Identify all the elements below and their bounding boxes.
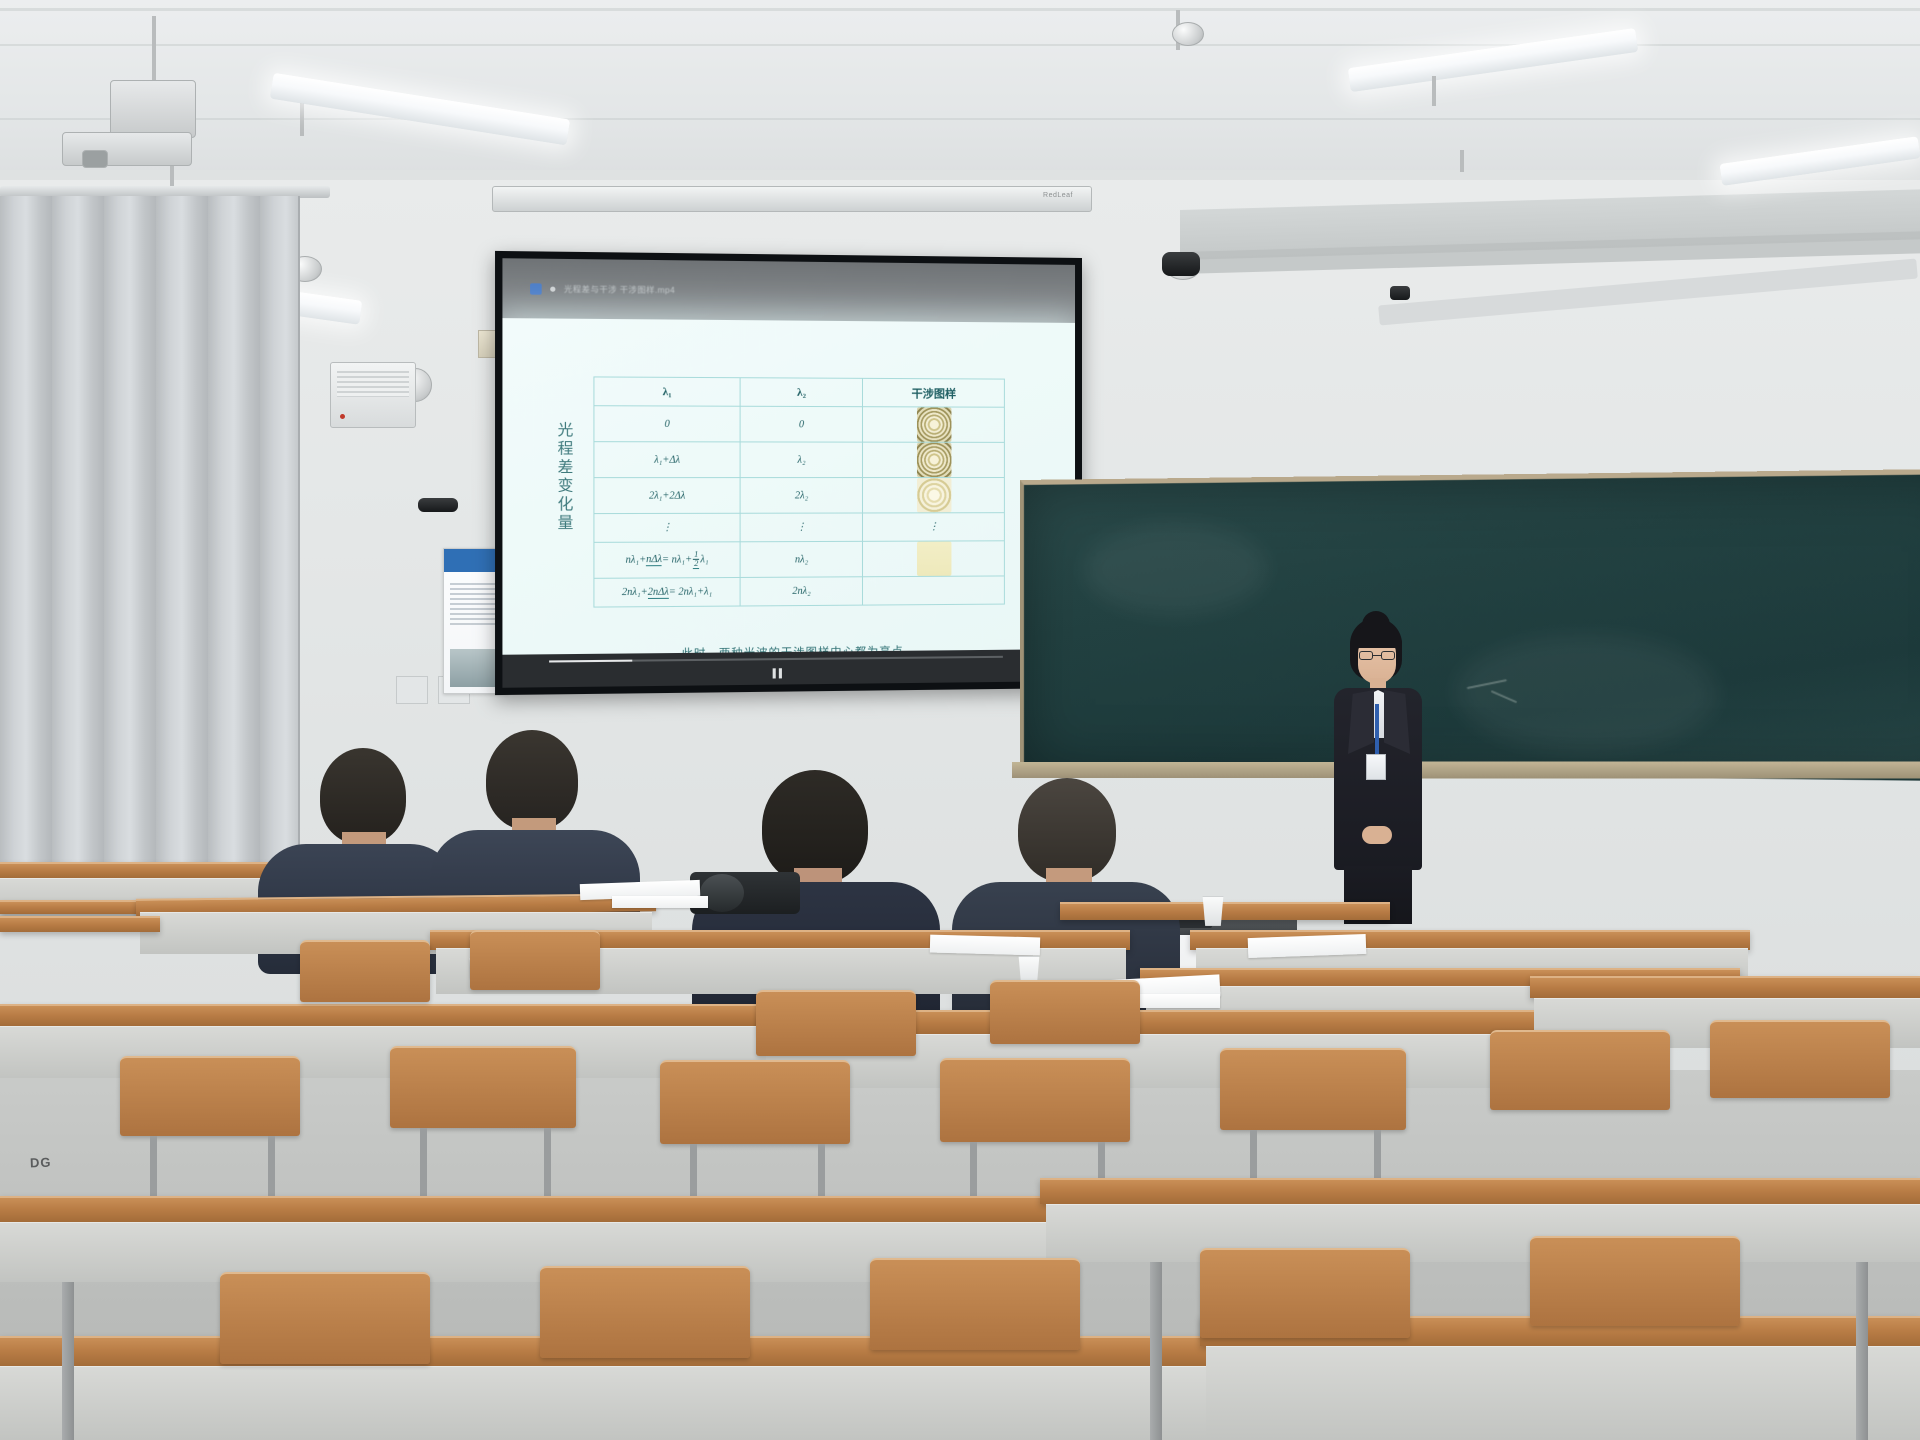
pause-icon[interactable] — [773, 668, 782, 678]
chair-back[interactable] — [990, 980, 1140, 1044]
ceiling-camera-icon — [1162, 252, 1200, 276]
presenter-fringe — [1352, 626, 1402, 648]
formula-tail: λ₁ — [700, 554, 708, 565]
cell-pattern — [863, 541, 1005, 577]
desk-row — [0, 1004, 780, 1026]
chair-post — [544, 1128, 551, 1200]
blackboard-chalk-tray — [1012, 761, 1920, 778]
bullet-icon — [550, 286, 555, 291]
table-row: ⋮ ⋮ ⋮ — [594, 513, 1004, 543]
table-row: λ₁+Δλ λ₂ — [594, 442, 1004, 478]
chair-back[interactable] — [660, 1060, 850, 1144]
audience-head — [762, 770, 868, 884]
projector-app-titlebar: 光程差与干涉 干涉图样.mp4 — [502, 258, 1075, 323]
desk-row-far — [0, 862, 300, 878]
cell-pattern — [863, 407, 1005, 443]
desk-row-front — [1040, 1178, 1920, 1204]
cell-c1: 2nλ₁+2nΔλ= 2nλ₁+λ₁ — [594, 577, 740, 607]
light-hanger — [1460, 150, 1464, 172]
ceiling-speaker-icon — [1172, 22, 1204, 46]
formula-lhs: 2nλ₁+ — [622, 587, 648, 598]
slide-vertical-label: 光程差变化量 — [549, 422, 572, 533]
interference-rings-icon — [917, 478, 951, 512]
glasses-icon — [1358, 651, 1396, 660]
cell-c2: nλ₂ — [740, 541, 863, 577]
desk-row — [1530, 976, 1920, 998]
cell-c2: λ₂ — [740, 442, 863, 478]
cell-pattern: ⋮ — [863, 513, 1005, 542]
formula-lhs: nλ₁+ — [626, 554, 646, 565]
desk-row — [1060, 902, 1390, 920]
lanyard-icon — [1375, 704, 1379, 756]
wall-camera-bar-icon — [418, 498, 458, 512]
interference-rings-icon — [917, 443, 951, 477]
screen-brand-label: RedLeaf — [1043, 192, 1073, 199]
audience-head — [320, 748, 406, 844]
cell-c1: 2λ₁+2Δλ — [594, 478, 740, 514]
light-hanger — [1432, 76, 1436, 106]
cell-c2: 2λ₂ — [740, 478, 863, 514]
desk-leg — [62, 1282, 74, 1440]
app-icon — [530, 283, 542, 294]
chair-back[interactable] — [220, 1272, 430, 1364]
ceiling-seam — [0, 8, 1920, 11]
formula-eq: = 2nλ₁+ — [669, 586, 704, 597]
presenter-hands — [1362, 826, 1392, 844]
audience-head — [486, 730, 578, 830]
desk-leg — [1150, 1262, 1162, 1440]
classroom-scene: RedLeaf 光程差与干涉 干涉图样.mp4 光程差变化量 λ₁ λ₂ 干 — [0, 0, 1920, 1440]
corner-mark-label: DG — [30, 1155, 52, 1171]
ceiling-seam — [0, 118, 1920, 120]
id-badge — [1366, 754, 1386, 780]
audience-head — [1018, 778, 1116, 882]
cell-pattern — [863, 442, 1005, 477]
chair-back[interactable] — [756, 990, 916, 1056]
projector-tab-title: 光程差与干涉 干涉图样.mp4 — [564, 283, 675, 295]
chair-back[interactable] — [1530, 1236, 1740, 1326]
cell-c1: λ₁+Δλ — [594, 442, 740, 478]
cell-c2: ⋮ — [740, 513, 863, 542]
chair-post — [420, 1128, 427, 1200]
blackboard — [1020, 469, 1920, 782]
table-row: 2nλ₁+2nΔλ= 2nλ₁+λ₁ 2nλ₂ — [594, 576, 1004, 607]
formula-underlined: nΔλ — [646, 554, 662, 566]
wall-ac-unit — [330, 362, 416, 428]
interference-rings-icon — [917, 407, 951, 441]
desk-leg — [1856, 1262, 1868, 1440]
window-curtain[interactable] — [0, 196, 300, 896]
video-player-controls[interactable] — [502, 649, 1075, 688]
chair-back[interactable] — [1200, 1248, 1410, 1338]
formula-underlined: 2nΔλ — [648, 587, 669, 599]
cell-c1: 0 — [594, 406, 740, 442]
table-header-lambda2: λ₂ — [740, 378, 863, 407]
table-header-lambda1: λ₁ — [594, 377, 740, 406]
chair-back[interactable] — [120, 1056, 300, 1136]
screen-roller-housing: RedLeaf — [492, 186, 1092, 212]
wall-plate — [396, 676, 428, 704]
ac-led-icon — [340, 414, 345, 419]
chair-back[interactable] — [1710, 1020, 1890, 1098]
desk-row-front — [0, 1196, 1080, 1222]
cell-c1: nλ₁+nΔλ= nλ₁+12λ₁ — [594, 542, 740, 579]
chair-back[interactable] — [300, 940, 430, 1002]
formula-eq: = nλ₁+ — [662, 554, 692, 565]
chair-back[interactable] — [870, 1258, 1080, 1350]
slide-content: 光程差变化量 λ₁ λ₂ 干涉图样 0 0 λ₁ — [502, 318, 1075, 669]
projector-lens — [82, 150, 108, 168]
formula-tail: λ₁ — [704, 586, 712, 597]
chair-back[interactable] — [1490, 1030, 1670, 1110]
paper-sheet — [930, 935, 1040, 956]
table-row: 0 0 — [594, 406, 1004, 443]
chair-back[interactable] — [1220, 1048, 1406, 1130]
cell-pattern — [863, 576, 1005, 605]
cell-c2: 0 — [740, 406, 863, 442]
progress-bar[interactable] — [549, 656, 1003, 663]
table-row: nλ₁+nΔλ= nλ₁+12λ₁ nλ₂ — [594, 541, 1004, 579]
fraction-half: 12 — [693, 550, 699, 569]
chair-back[interactable] — [390, 1046, 576, 1128]
interference-bright-icon — [917, 542, 951, 576]
desk-front-panel — [1206, 1346, 1920, 1440]
slide-table: λ₁ λ₂ 干涉图样 0 0 λ₁+Δλ λ₂ — [593, 376, 1004, 607]
table-row: 2λ₁+2Δλ 2λ₂ — [594, 478, 1004, 514]
cell-pattern — [863, 478, 1005, 513]
cell-c2: 2nλ₂ — [740, 577, 863, 606]
paper-sheet — [612, 896, 708, 908]
table-header-pattern: 干涉图样 — [863, 378, 1005, 407]
presenter — [1318, 618, 1438, 918]
chair-back[interactable] — [470, 930, 600, 990]
desk-row — [0, 916, 160, 932]
chair-back[interactable] — [940, 1058, 1130, 1142]
chair-back[interactable] — [540, 1266, 750, 1358]
table-header-row: λ₁ λ₂ 干涉图样 — [594, 377, 1004, 407]
projection-screen[interactable]: 光程差与干涉 干涉图样.mp4 光程差变化量 λ₁ λ₂ 干涉图样 0 0 — [495, 251, 1082, 695]
desk-front-panel — [1046, 1204, 1920, 1262]
ceiling-sensor-icon — [1390, 286, 1410, 300]
desk-front-panel — [0, 1366, 1240, 1440]
cell-c1: ⋮ — [594, 513, 740, 542]
paper-sheet — [1248, 934, 1367, 958]
projector-body — [110, 80, 196, 138]
